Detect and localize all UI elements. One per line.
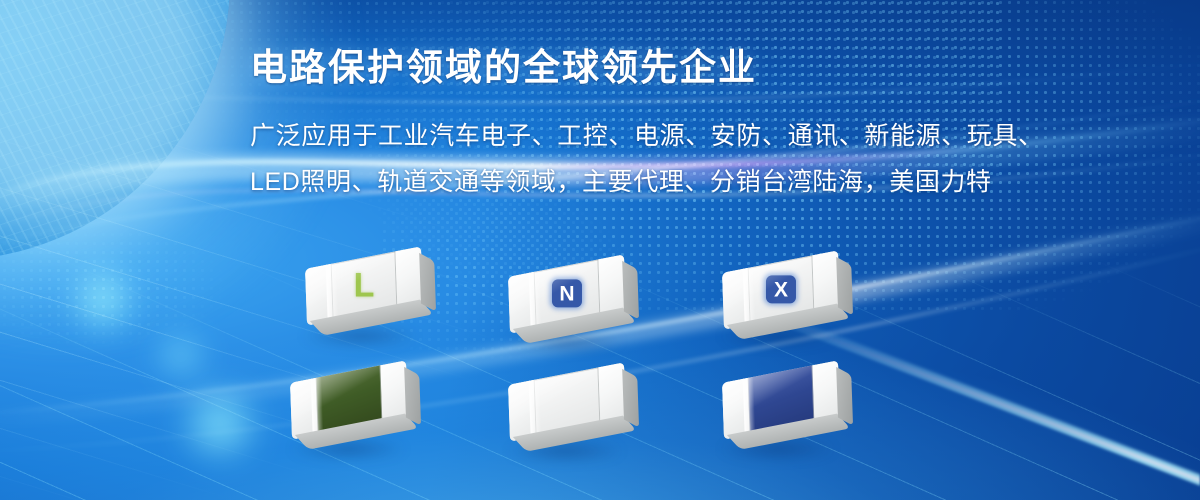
product-smd-fuse-plain — [508, 362, 626, 441]
banner-subtitle-line-1: 广泛应用于工业汽车电子、工控、电源、安防、通讯、新能源、玩具、 — [250, 112, 1040, 161]
chip-side-face — [836, 257, 853, 316]
marking-badge: N — [552, 279, 582, 307]
chip-marking-l: L — [354, 268, 375, 302]
banner-title: 电路保护领域的全球领先企业 — [250, 46, 1040, 90]
marking-letter: N — [559, 283, 574, 304]
product-smd-fuse-blue — [722, 360, 840, 439]
product-smd-fuse-x: X — [722, 250, 840, 329]
chip-side-face — [622, 369, 639, 428]
banner-subtitle-line-2: LED照明、轨道交通等领域，主要代理、分销台湾陆海，美国力特 — [250, 158, 1040, 207]
chip-side-face — [419, 253, 436, 312]
chip-side-face — [836, 367, 853, 426]
product-smd-fuse-green — [290, 360, 408, 439]
chip-side-face — [622, 261, 639, 320]
marking-badge: X — [766, 275, 796, 303]
product-smd-fuse-l: L — [305, 246, 423, 325]
chip-marking-x: X — [766, 275, 796, 303]
chip-marking-n: N — [552, 279, 582, 307]
product-smd-fuse-n: N — [508, 254, 626, 333]
marking-letter: X — [774, 279, 788, 300]
banner-copy: 电路保护领域的全球领先企业 广泛应用于工业汽车电子、工控、电源、安防、通讯、新能… — [250, 46, 1040, 207]
chip-side-face — [404, 367, 421, 426]
hero-banner: 电路保护领域的全球领先企业 广泛应用于工业汽车电子、工控、电源、安防、通讯、新能… — [0, 0, 1200, 500]
